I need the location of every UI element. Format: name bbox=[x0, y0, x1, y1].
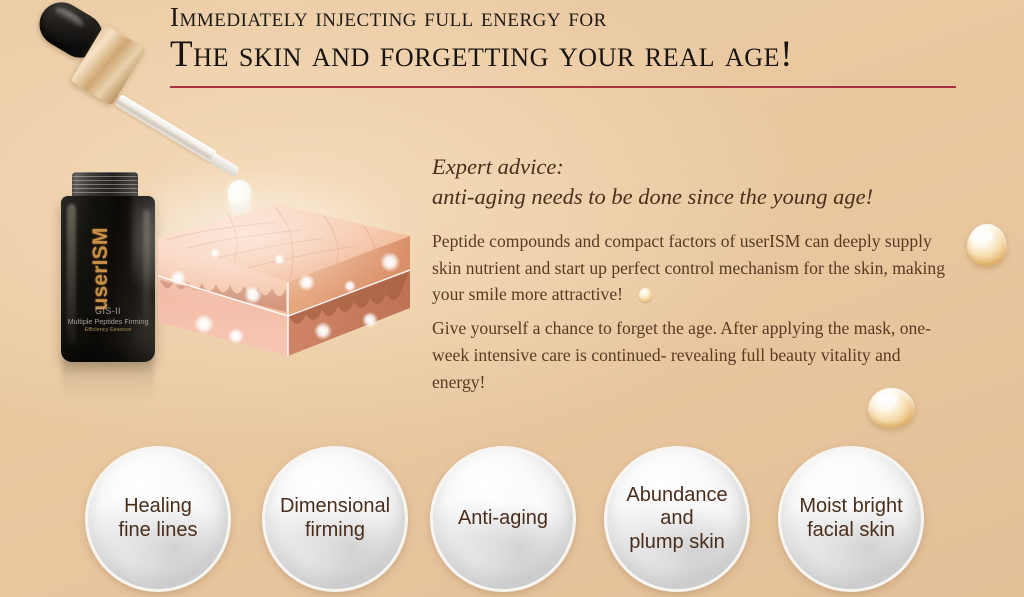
benefit-label: Moist bright facial skin bbox=[791, 495, 910, 542]
benefit-circle-healing-fine-lines[interactable]: Healing fine lines bbox=[85, 446, 231, 592]
benefit-circle-dimensional-firming[interactable]: Dimensional firming bbox=[262, 446, 408, 592]
benefit-circles: Healing fine lines Dimensional firming A… bbox=[0, 0, 1024, 597]
benefit-label: Healing fine lines bbox=[111, 495, 206, 542]
benefit-circle-abundance-plump-skin[interactable]: Abundance and plump skin bbox=[604, 446, 750, 592]
benefit-label: Anti-aging bbox=[450, 507, 556, 531]
benefit-circle-moist-bright-facial-skin[interactable]: Moist bright facial skin bbox=[778, 446, 924, 592]
benefit-label: Dimensional firming bbox=[272, 495, 398, 542]
advertisement-banner: Immediately injecting full energy for Th… bbox=[0, 0, 1024, 597]
benefit-circle-anti-aging[interactable]: Anti-aging bbox=[430, 446, 576, 592]
benefit-label: Abundance and plump skin bbox=[618, 484, 735, 555]
